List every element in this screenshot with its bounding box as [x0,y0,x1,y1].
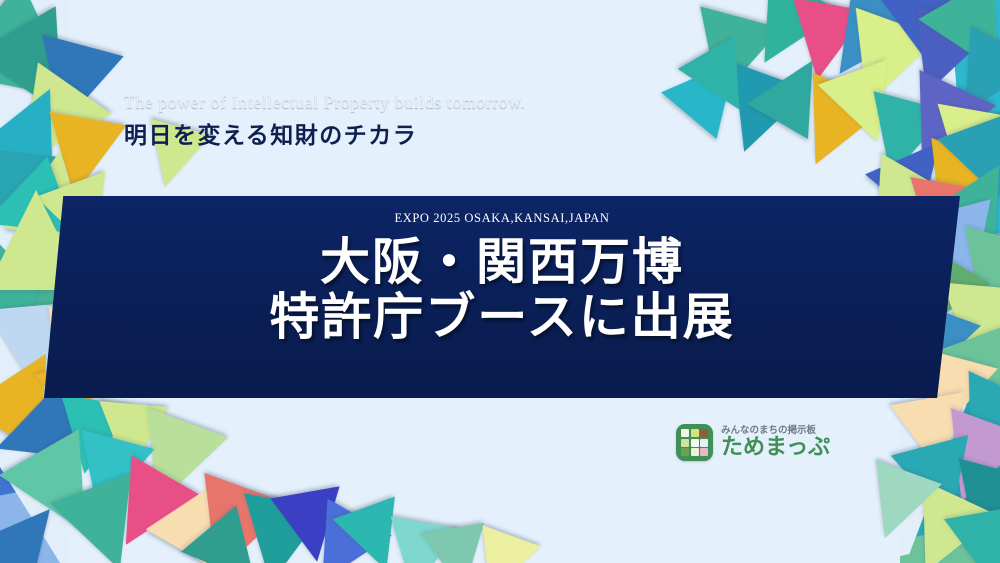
expo-label: EXPO 2025 OSAKA,KANSAI,JAPAN [395,211,610,226]
bulletin-tile-2 [691,429,699,437]
tagline-block: The power of Intellectual Property build… [124,92,525,150]
bulletin-tile-8 [691,448,699,456]
logo-name: ためまっぷ [721,437,830,459]
tagline-english: The power of Intellectual Property build… [124,92,525,113]
bulletin-tile-9 [700,448,708,456]
bulletin-tile-7 [681,448,689,456]
navy-banner-content: EXPO 2025 OSAKA,KANSAI,JAPAN 大阪・関西万博 特許庁… [44,196,960,398]
bulletin-tile-5 [691,439,699,447]
headline-line-1: 大阪・関西万博 [320,233,684,290]
bulletin-tile-1 [681,429,689,437]
headline-line-2: 特許庁ブースに出展 [269,288,735,345]
promo-banner: The power of Intellectual Property build… [0,0,1000,563]
bulletin-tile-4 [681,439,689,447]
tamemap-logo[interactable]: みんなのまちの掲示板 ためまっぷ [676,424,830,461]
bulletin-board-icon-tiles [681,429,708,456]
bulletin-tile-6 [700,439,708,447]
tagline-japanese: 明日を変える知財のチカラ [124,116,525,150]
bulletin-board-icon [676,424,713,461]
logo-text-block: みんなのまちの掲示板 ためまっぷ [721,426,830,460]
navy-banner: EXPO 2025 OSAKA,KANSAI,JAPAN 大阪・関西万博 特許庁… [44,196,960,398]
bulletin-tile-3 [700,429,708,437]
logo-subtitle: みんなのまちの掲示板 [721,426,830,436]
